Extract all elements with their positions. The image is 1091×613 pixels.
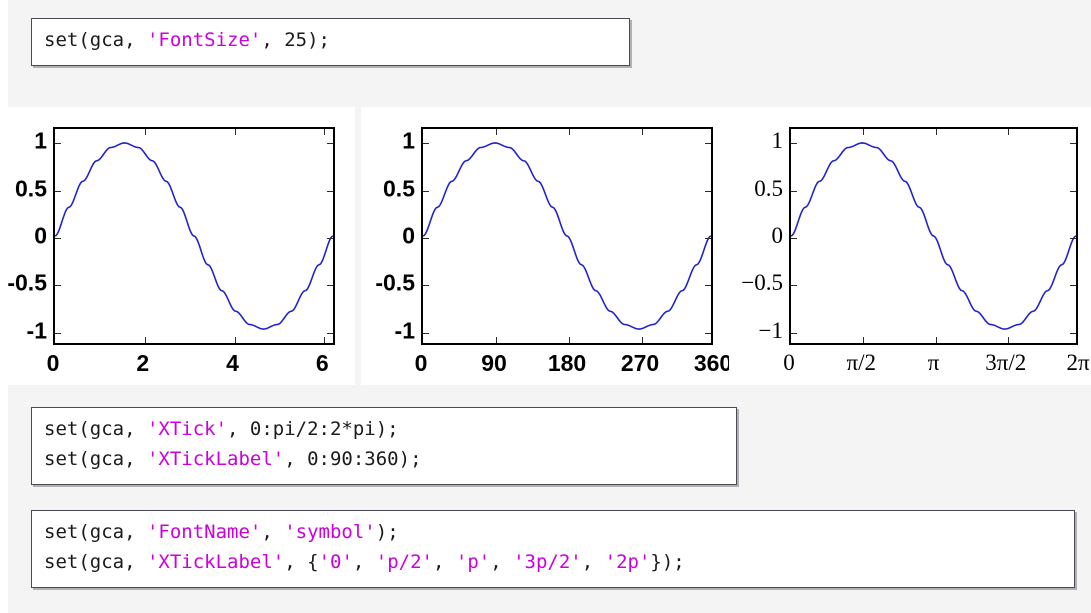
x-tick-label: 270 <box>621 350 659 377</box>
code-text: , <box>433 551 456 573</box>
y-tick-mark-right <box>1070 333 1076 334</box>
code-block-fontsize[interactable]: set(gca, 'FontSize', 25); <box>31 18 630 66</box>
y-tick-mark-right <box>327 191 333 192</box>
y-tick-mark-right <box>1070 143 1076 144</box>
y-tick-label: −0.5 <box>731 270 783 296</box>
x-tick-mark <box>936 337 937 343</box>
code-text: set(gca, <box>44 551 147 573</box>
y-tick-mark <box>55 191 61 192</box>
x-tick-mark-top <box>936 129 937 135</box>
code-string-literal: '0' <box>319 551 353 573</box>
code-text: , <box>261 521 284 543</box>
x-tick-mark <box>324 337 325 343</box>
code-text: set(gca, <box>44 29 147 51</box>
x-tick-label: 0 <box>415 350 428 377</box>
plot-canvas <box>423 129 711 343</box>
x-tick-mark <box>496 337 497 343</box>
code-text: set(gca, <box>44 448 147 470</box>
x-tick-label: 6 <box>316 350 329 377</box>
x-tick-label: 4 <box>226 350 239 377</box>
code-string-literal: '3p/2' <box>513 551 582 573</box>
code-text: , <box>490 551 513 573</box>
x-tick-mark <box>235 337 236 343</box>
sine-plot-symbol-pi: 0π/2π3π/22π−1−0.500.51 <box>729 107 1091 385</box>
x-tick-label: π/2 <box>846 350 876 376</box>
y-tick-mark <box>791 238 797 239</box>
code-text: , { <box>284 551 318 573</box>
y-tick-mark <box>423 191 429 192</box>
y-tick-mark-right <box>705 333 711 334</box>
code-string-literal: '2p' <box>605 551 651 573</box>
x-tick-label: 3π/2 <box>985 350 1026 376</box>
code-text: , <box>353 551 376 573</box>
y-tick-mark-right <box>705 285 711 286</box>
code-text: set(gca, <box>44 521 147 543</box>
x-tick-mark-top <box>569 129 570 135</box>
y-tick-mark <box>791 333 797 334</box>
y-tick-mark <box>55 238 61 239</box>
x-tick-mark-top <box>324 129 325 135</box>
code-string-literal: 'XTickLabel' <box>147 551 284 573</box>
y-tick-mark-right <box>1070 238 1076 239</box>
code-line: set(gca, 'FontName', 'symbol'); <box>44 517 1064 547</box>
y-tick-mark-right <box>327 333 333 334</box>
plot-axes-box <box>421 127 713 345</box>
x-tick-mark <box>1008 337 1009 343</box>
plot-canvas <box>791 129 1076 343</box>
y-tick-mark <box>55 285 61 286</box>
y-tick-mark <box>423 143 429 144</box>
plot-canvas <box>55 129 333 343</box>
y-tick-label: -1 <box>363 317 415 344</box>
y-tick-mark <box>55 143 61 144</box>
code-block-xtick[interactable]: set(gca, 'XTick', 0:pi/2:2*pi);set(gca, … <box>31 407 737 485</box>
y-tick-mark-right <box>1070 285 1076 286</box>
y-tick-label: -0.5 <box>363 270 415 297</box>
code-string-literal: 'FontName' <box>147 521 261 543</box>
data-series-line <box>423 143 711 329</box>
x-tick-label: 90 <box>481 350 507 377</box>
y-tick-label: 0 <box>731 223 783 249</box>
x-tick-mark-top <box>235 129 236 135</box>
code-text: ); <box>376 521 399 543</box>
code-block-fontname-symbol[interactable]: set(gca, 'FontName', 'symbol');set(gca, … <box>31 510 1075 588</box>
y-tick-label: 0 <box>363 223 415 250</box>
y-tick-mark-right <box>327 238 333 239</box>
code-text: , 25); <box>261 29 330 51</box>
code-line: set(gca, 'FontSize', 25); <box>44 25 619 55</box>
x-tick-mark <box>642 337 643 343</box>
code-string-literal: 'FontSize' <box>147 29 261 51</box>
data-series-line <box>791 143 1076 329</box>
y-tick-mark <box>423 285 429 286</box>
y-tick-mark <box>423 333 429 334</box>
code-string-literal: 'p/2' <box>376 551 433 573</box>
code-text: , 0:90:360); <box>284 448 421 470</box>
code-line: set(gca, 'XTickLabel', {'0', 'p/2', 'p',… <box>44 547 1064 577</box>
y-tick-mark <box>791 143 797 144</box>
y-tick-label: -1 <box>0 317 47 344</box>
y-tick-label: −1 <box>731 318 783 344</box>
x-tick-label: 0 <box>47 350 60 377</box>
y-tick-label: -0.5 <box>0 270 47 297</box>
x-tick-mark <box>145 337 146 343</box>
code-string-literal: 'p' <box>456 551 490 573</box>
y-tick-label: 0 <box>0 223 47 250</box>
code-text: , <box>582 551 605 573</box>
x-tick-label: π <box>928 350 940 376</box>
y-tick-label: 0.5 <box>0 175 47 202</box>
y-tick-mark-right <box>327 285 333 286</box>
y-tick-label: 1 <box>0 128 47 155</box>
y-tick-mark-right <box>327 143 333 144</box>
sine-plot-radians: 0246-1-0.500.51 <box>0 107 355 385</box>
x-tick-mark-top <box>642 129 643 135</box>
y-tick-label: 0.5 <box>731 176 783 202</box>
code-text: set(gca, <box>44 418 147 440</box>
y-tick-label: 1 <box>363 128 415 155</box>
x-tick-mark-top <box>496 129 497 135</box>
code-text: , 0:pi/2:2*pi); <box>227 418 399 440</box>
y-tick-mark-right <box>705 238 711 239</box>
x-tick-label: 0 <box>783 350 795 376</box>
y-tick-mark-right <box>705 191 711 192</box>
code-text: }); <box>650 551 684 573</box>
x-tick-mark <box>863 337 864 343</box>
y-tick-mark <box>55 333 61 334</box>
plot-axes-box <box>53 127 335 345</box>
x-tick-mark-top <box>145 129 146 135</box>
code-string-literal: 'symbol' <box>284 521 376 543</box>
code-line: set(gca, 'XTickLabel', 0:90:360); <box>44 444 726 474</box>
x-tick-label: 180 <box>548 350 586 377</box>
data-series-line <box>55 143 333 329</box>
sine-plot-degrees: 090180270360-1-0.500.51 <box>361 107 733 385</box>
plot-axes-box <box>789 127 1078 345</box>
y-tick-mark <box>791 191 797 192</box>
code-string-literal: 'XTickLabel' <box>147 448 284 470</box>
x-tick-label: 2π <box>1066 350 1089 376</box>
x-tick-mark-top <box>863 129 864 135</box>
x-tick-label: 2 <box>136 350 149 377</box>
y-tick-mark-right <box>705 143 711 144</box>
code-line: set(gca, 'XTick', 0:pi/2:2*pi); <box>44 414 726 444</box>
x-tick-label: 360 <box>694 350 732 377</box>
y-tick-mark <box>791 285 797 286</box>
y-tick-label: 0.5 <box>363 175 415 202</box>
y-tick-mark <box>423 238 429 239</box>
y-tick-label: 1 <box>731 128 783 154</box>
x-tick-mark-top <box>1008 129 1009 135</box>
y-tick-mark-right <box>1070 191 1076 192</box>
x-tick-mark <box>569 337 570 343</box>
code-string-literal: 'XTick' <box>147 418 227 440</box>
